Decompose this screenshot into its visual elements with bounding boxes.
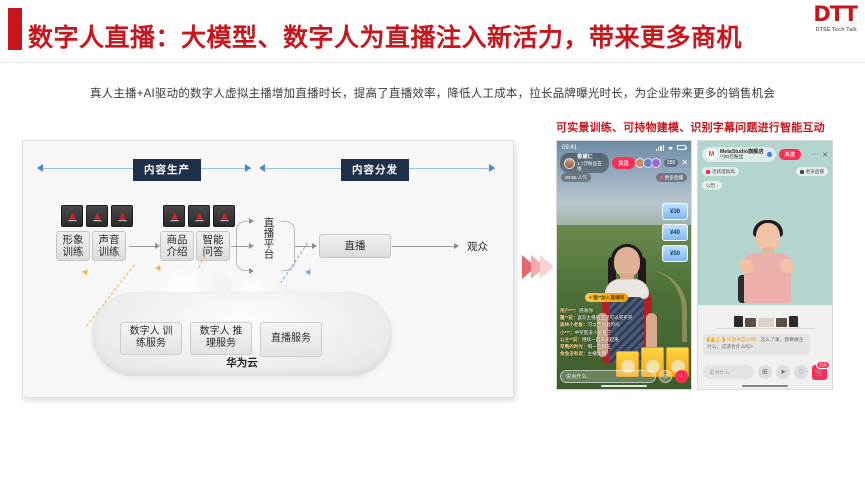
live-host-bar: 香黛仁 1.7万粉丝在线 关注 286 ✕ (560, 155, 688, 171)
phase-label-distribution: 内容分发 (341, 159, 409, 181)
node-smart-qa-l1: 智能 (203, 234, 224, 246)
danmu-user: 金鱼没有武： (560, 351, 588, 356)
danmu-text: 感谢你 (579, 308, 593, 313)
node-voice-training[interactable]: 声音 训练 (92, 231, 126, 261)
node-live-label: 直播 (345, 240, 366, 252)
danmu-text: 喜欢主播的宝贝可以买买买 (577, 315, 632, 320)
more-live-tag[interactable]: 更多直播 (796, 167, 828, 176)
verified-badge-icon (767, 152, 772, 157)
dashed-head-inference (155, 264, 163, 271)
home-indicator (601, 385, 647, 387)
viewer-avatar-3 (651, 158, 661, 168)
danmu-text: 中奖就没人买看了 (575, 330, 612, 335)
ai-answer-caption: 扩音器问题来自小明：怎么了事。我要做主什么，这适合什么吗? (703, 334, 810, 355)
brand-followers: **20万粉丝 (720, 155, 743, 160)
dashed-head-livesvc (305, 268, 313, 276)
share-icon[interactable]: ➤ (776, 365, 790, 379)
live-duration-label: 00:56 人气 (565, 175, 587, 181)
cloud-provider-name: 华为云 (92, 355, 392, 370)
shelf-item (734, 316, 743, 327)
signal-icon (656, 145, 664, 151)
node-product-intro-l1: 商品 (167, 234, 188, 246)
avatar-model-icon-1 (61, 205, 83, 227)
node-smart-qa[interactable]: 智能 问答 (196, 231, 230, 261)
node-voice-training-l2: 训练 (99, 246, 120, 258)
cart-icon[interactable]: ! (675, 370, 688, 383)
shelf-item (789, 316, 798, 327)
danmu-user: 小***： (560, 330, 575, 335)
table-edge (716, 328, 816, 329)
chat-input[interactable]: 说点什么... (560, 370, 656, 383)
node-audience: 观众 (467, 239, 488, 254)
danmu-item: 露**说：喜欢主播的宝贝可以买买买 (560, 314, 644, 321)
more-live-tag[interactable]: 更多直播 (656, 173, 687, 182)
digital-human-figure (736, 223, 798, 301)
battery-icon (677, 145, 686, 150)
cloud-service-avatar-inference[interactable]: 数字人 推理服务 (190, 322, 252, 355)
avatar-content-icon-2 (188, 205, 210, 227)
node-image-training[interactable]: 形象 训练 (56, 231, 90, 261)
phase-arrow-right-a (245, 164, 251, 172)
svc-2-l1: 直播服务 (271, 333, 311, 344)
node-live-platform-label: 直播平台 (262, 217, 273, 259)
close-icon[interactable]: ✕ (822, 151, 828, 159)
slide-root: 数字人直播：大模型、数字人为直播注入新活力，带来更多商机 DTT DTSE Te… (0, 0, 865, 480)
join-room-label: ♥ 强**加入直播间 (589, 295, 624, 301)
join-room-promo: ♥ 强**加入直播间 (585, 293, 628, 302)
brand-pill[interactable]: M MetaStudio旗舰店 **20万粉丝 (702, 147, 776, 162)
flow-to-platform (231, 246, 251, 247)
page-title: 数字人直播：大模型、数字人为直播注入新活力，带来更多商机 (28, 18, 818, 54)
shelf-item (745, 318, 756, 327)
node-live-platform: 直播平台 (261, 217, 275, 262)
more-live-label: 更多直播 (806, 169, 824, 175)
activity-icon (706, 170, 710, 174)
node-product-intro[interactable]: 商品 介绍 (160, 231, 194, 261)
node-smart-qa-l2: 问答 (203, 246, 224, 258)
header-divider (0, 62, 865, 63)
danmu-user: 森林小老板： (560, 322, 588, 327)
node-image-training-l1: 形象 (63, 234, 84, 246)
grid-icon[interactable]: ⊞ (758, 365, 772, 379)
coupon-item[interactable]: ¥40 (662, 224, 688, 241)
cart-icon[interactable]: 🛒 热卖 (812, 365, 827, 380)
notice-tag[interactable]: 公告 › (702, 181, 722, 190)
danmu-item: 用户***：感谢你 (560, 307, 644, 314)
danmu-user: 早熟的时光： (560, 344, 588, 349)
viewer-avatars[interactable]: 286 ✕ (638, 158, 688, 168)
more-live-label: 更多直播 (665, 175, 683, 181)
cloud-service-avatar-training[interactable]: 数字人 训练服务 (120, 322, 182, 355)
danmu-text: 继续一起来买起来 (582, 337, 619, 342)
phone-screenshot-digitalhuman: M MetaStudio旗舰店 **20万粉丝 关注 ··· ✕ 活跃度很高 更… (697, 140, 833, 390)
phase-arrow-left-a (37, 164, 43, 172)
host-info: 香黛仁 1.7万粉丝在线 (577, 154, 605, 172)
caption-badge: 扩音器 (707, 337, 725, 342)
dashed-head-training (82, 268, 90, 276)
avatar-content-icon-1 (163, 205, 185, 227)
logo-subtitle: DTSE Tech Talk (781, 27, 857, 33)
follow-button[interactable]: 关注 (612, 157, 635, 169)
host-followers: 1.7万粉丝在线 (577, 161, 602, 172)
flow-training-to-content (129, 246, 156, 247)
shelf-item (758, 318, 774, 327)
home-indicator (742, 385, 788, 387)
cloud-service-live[interactable]: 直播服务 (260, 322, 322, 357)
follow-button[interactable]: 关注 (779, 149, 801, 160)
node-voice-training-l1: 声音 (99, 234, 120, 246)
notice-label: 公告 › (706, 183, 718, 189)
accent-bar (8, 8, 22, 50)
phone-bottom-bar: 说点什么... ☺ ! (560, 370, 688, 383)
danmu-text: 可以告他复的吗 (588, 322, 620, 327)
avatar-model-icon-2 (86, 205, 108, 227)
status-icon-group (656, 145, 686, 151)
showcase-heading: 可实景训练、可持物建模、识别字幕问题进行智能互动 (556, 119, 825, 135)
phone-bottom-bar: 说点什么 ⊞ ➤ ♡ 🛒 热卖 (703, 365, 827, 379)
status-time: 09:41 (562, 145, 577, 151)
hand-left (740, 259, 753, 273)
flow-head-3 (454, 243, 459, 249)
like-icon[interactable]: ♡ (794, 365, 808, 379)
flow-live-to-audience (392, 246, 455, 247)
activity-tag: 活跃度很高 (702, 167, 739, 176)
phase-arrow-right-b (489, 164, 495, 172)
live-duration-tag: 00:56 人气 (561, 173, 591, 182)
close-icon[interactable]: ✕ (681, 159, 688, 167)
avatar-model-icon-3 (111, 205, 133, 227)
node-product-intro-l2: 介绍 (167, 246, 188, 258)
brand-bar: M MetaStudio旗舰店 **20万粉丝 关注 ··· ✕ (702, 147, 828, 162)
more-icon[interactable]: ··· (810, 151, 817, 158)
topbar-actions: ··· ✕ (810, 151, 828, 159)
avatar (564, 158, 575, 169)
chevron-right-icon (520, 250, 554, 284)
host-pill[interactable]: 香黛仁 1.7万粉丝在线 (560, 153, 609, 174)
shelf-item (776, 318, 787, 327)
coupon-stack[interactable]: ¥30 ¥40 ¥50 (662, 203, 688, 262)
phase-arrow-left-b (259, 164, 265, 172)
fan-head-top (249, 218, 254, 224)
fan-head-bottom (249, 268, 254, 274)
coupon-item[interactable]: ¥50 (662, 245, 688, 262)
brand-logo: DTT DTSE Tech Talk (781, 4, 857, 33)
brand-logo-icon: M (706, 149, 717, 160)
avatar-content-icon-3 (213, 205, 235, 227)
viewer-count: 286 (664, 159, 678, 167)
huawei-cloud-group: 数字人 训练服务 数字人 推理服务 直播服务 华为云 (92, 292, 392, 376)
phase-arrow-row: 内容生产 内容分发 (23, 159, 515, 179)
hand-right (781, 259, 794, 273)
phase-label-production: 内容生产 (133, 159, 201, 181)
coupon-item[interactable]: ¥30 (662, 203, 688, 220)
brand-info: MetaStudio旗舰店 **20万粉丝 (720, 149, 764, 161)
grid-icon (800, 170, 804, 174)
phone-screenshot-realworld: 09:41 香黛仁 1.7万粉丝在线 关注 286 ✕ (556, 140, 692, 390)
danmu-user: 公主**说： (560, 337, 582, 342)
node-live[interactable]: 直播 (319, 234, 391, 258)
product-shelf (720, 313, 812, 327)
danmu-text: 啊一直都在 (588, 344, 611, 349)
node-image-training-l2: 训练 (63, 246, 84, 258)
activity-label: 活跃度很高 (712, 169, 735, 175)
logo-mark: DTT (781, 4, 857, 25)
svc-1-l1: 数字人 (200, 326, 230, 337)
page-subtitle: 真人主播+AI驱动的数字人虚拟主播增加直播时长，提高了直播效率，降低人工成本，拉… (0, 85, 865, 101)
chat-input[interactable]: 说点什么 (703, 365, 754, 379)
danmu-user: 露**说： (560, 315, 577, 320)
danmu-item: 森林小老板：可以告他复的吗 (560, 321, 644, 328)
danmu-user: 用户***： (560, 308, 579, 313)
flow-head-2 (312, 243, 317, 249)
danmu-text: 主播大神 (588, 351, 606, 356)
emoji-icon[interactable]: ☺ (659, 370, 672, 383)
cart-badge: 热卖 (816, 361, 830, 369)
wifi-icon (667, 145, 674, 151)
danmu-item: 公主**说：继续一起来买起来 (560, 336, 644, 343)
caption-question: 问题来自小明： (727, 338, 761, 343)
svc-0-l1: 数字人 (130, 326, 160, 337)
live-dot-icon (660, 176, 663, 179)
danmu-item: 小***：中奖就没人买看了 (560, 329, 644, 336)
